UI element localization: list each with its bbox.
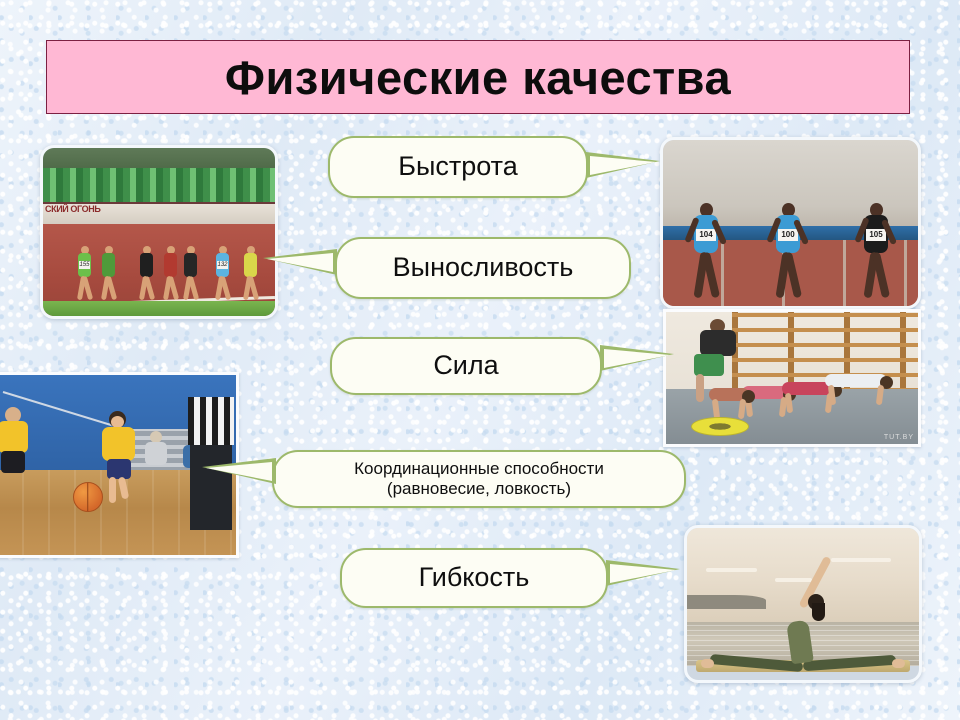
- callout-coordination-line1: Координационные способности: [354, 459, 604, 478]
- basketball-scene: [0, 375, 236, 555]
- callout-flexibility[interactable]: Гибкость: [340, 548, 608, 608]
- slide-canvas: Физические качества СКИЙ ОГОНЬ 155: [0, 0, 960, 720]
- runners-stand: [43, 168, 275, 205]
- yoga-scene: [687, 528, 919, 680]
- yoga-foot: [701, 659, 714, 668]
- sprinters-scene: 104 100 105: [663, 140, 918, 306]
- callout-strength-tail-icon: [600, 345, 674, 371]
- callout-flexibility-label: Гибкость: [419, 562, 530, 594]
- yoga-foot: [892, 659, 905, 668]
- page-title: Физические качества: [225, 54, 731, 101]
- runner-bib: 132: [217, 261, 228, 269]
- sprinter-bib: 104: [696, 229, 716, 241]
- sprinter-bib: 105: [866, 229, 886, 241]
- callout-coordination[interactable]: Координационные способности (равновесие,…: [272, 450, 686, 508]
- photo-runners: СКИЙ ОГОНЬ 155 132: [40, 145, 278, 319]
- runners-grass: [43, 301, 275, 316]
- callout-endurance-tail-icon: [263, 249, 337, 275]
- plank-figure: [709, 388, 749, 414]
- callout-coordination-line2: (равновесие, ловкость): [387, 479, 571, 498]
- photo-gym-plank: TUT.BY: [663, 309, 921, 447]
- runner-bib: 155: [79, 261, 90, 269]
- sprinter-bib: 100: [778, 229, 798, 241]
- callout-speed[interactable]: Быстрота: [328, 136, 588, 198]
- yoga-headland: [687, 595, 766, 609]
- basketball-player-boy: [97, 411, 141, 523]
- callout-speed-label: Быстрота: [398, 151, 518, 183]
- title-banner: Физические качества: [46, 40, 910, 114]
- basketball-ball: [73, 482, 103, 512]
- callout-flexibility-tail-icon: [606, 560, 680, 586]
- gym-scene: TUT.BY: [666, 312, 918, 444]
- callout-speed-tail-icon: [586, 152, 660, 178]
- yoga-cloud: [831, 558, 891, 562]
- callout-endurance-label: Выносливость: [393, 252, 574, 284]
- basketball-teammate: [0, 407, 30, 508]
- gym-watermark: TUT.BY: [884, 434, 914, 441]
- spectator-figure: [145, 431, 167, 465]
- yoga-hair: [812, 603, 825, 621]
- yoga-cloud: [775, 578, 812, 582]
- yoga-cloud: [706, 568, 757, 572]
- callout-strength-label: Сила: [433, 350, 498, 382]
- callout-strength[interactable]: Сила: [330, 337, 602, 395]
- photo-yoga: [684, 525, 922, 683]
- photo-sprinters: 104 100 105: [660, 137, 921, 309]
- runners-scene: СКИЙ ОГОНЬ 155 132: [43, 148, 275, 316]
- plank-figure: [825, 374, 887, 400]
- callout-coordination-label: Координационные способности (равновесие,…: [354, 459, 604, 499]
- callout-endurance[interactable]: Выносливость: [335, 237, 631, 299]
- runners-board-text: СКИЙ ОГОНЬ: [45, 204, 100, 214]
- callout-coordination-tail-icon: [202, 458, 276, 484]
